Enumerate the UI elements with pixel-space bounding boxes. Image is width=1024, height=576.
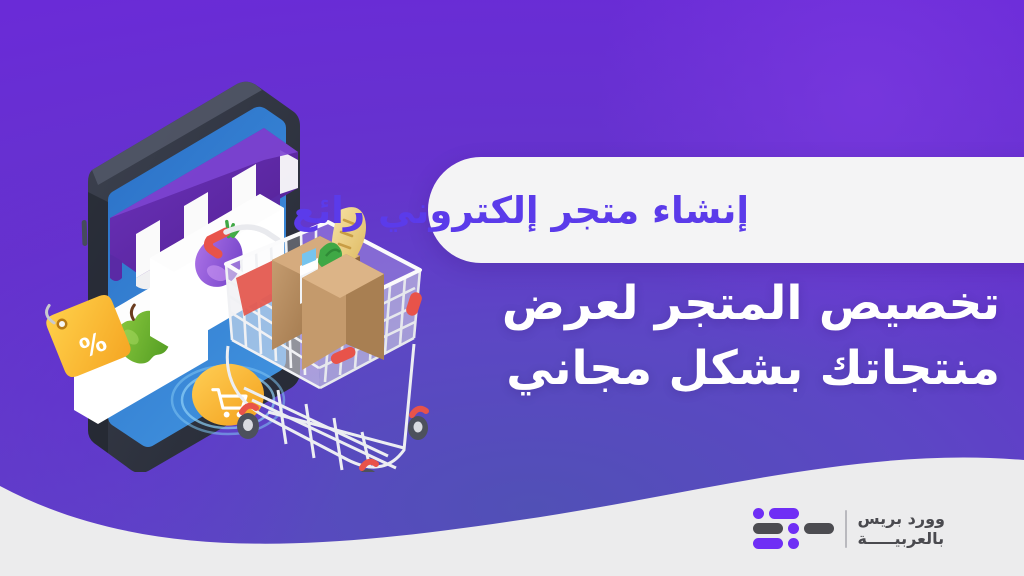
bottom-wave-divider <box>0 416 1024 576</box>
banner-canvas: % <box>0 0 1024 576</box>
logo-line-2: بالعربيـــــة <box>858 529 945 549</box>
phone-side-button <box>82 220 88 246</box>
headline-line-1: تخصيص المتجر لعرض <box>380 272 1000 337</box>
logo-bar <box>753 523 783 534</box>
logo-wordmark: وورد بريس بالعربيـــــة <box>858 509 945 548</box>
logo-mark-row-3 <box>753 538 834 549</box>
logo-dot <box>788 538 799 549</box>
logo-divider <box>845 510 847 548</box>
logo-dot <box>788 523 799 534</box>
page-title: تخصيص المتجر لعرض منتجاتك بشكل مجاني <box>380 272 1000 402</box>
logo-mark-row-1 <box>753 508 834 519</box>
badge-text: إنشاء متجر إلكتروني رائع <box>292 189 763 232</box>
logo-line-1: وورد بريس <box>858 509 945 529</box>
headline-line-2: منتجاتك بشكل مجاني <box>380 337 1000 402</box>
wordpress-arabic-logo-mark-icon <box>753 508 834 549</box>
logo-mark-row-2 <box>753 523 834 534</box>
brand-logo[interactable]: وورد بريس بالعربيـــــة <box>753 508 945 549</box>
badge-pill: إنشاء متجر إلكتروني رائع <box>428 157 1024 263</box>
logo-bar <box>804 523 834 534</box>
store-illustration: % <box>32 42 432 472</box>
logo-bar <box>769 508 799 519</box>
logo-bar <box>753 538 783 549</box>
logo-dot <box>753 508 764 519</box>
